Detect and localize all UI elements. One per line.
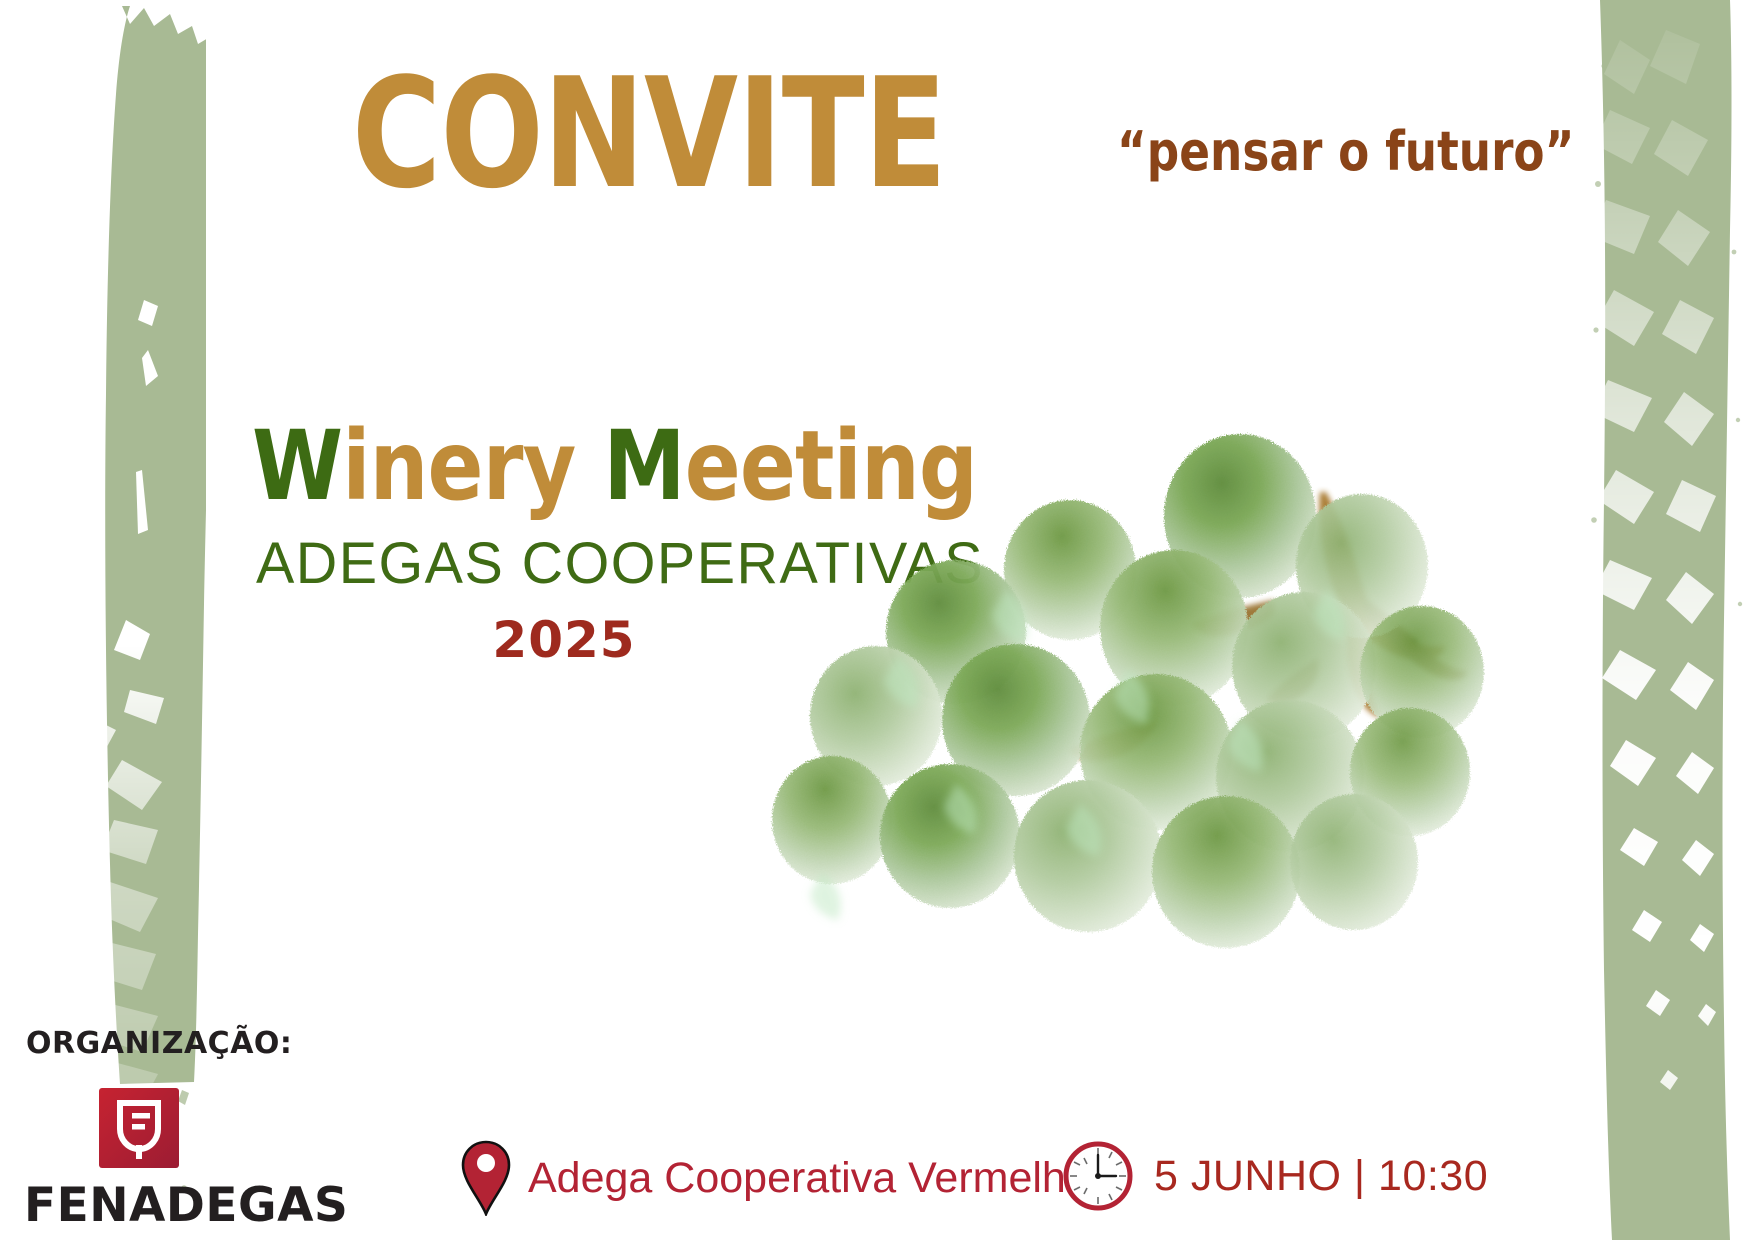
clock-icon [1060,1138,1136,1214]
date-info: 5 JUNHO | 10:30 [1060,1138,1488,1214]
event-title-cap-w: W [252,410,342,522]
event-title-cap-m: M [603,410,684,522]
organisation-label: ORGANIZAÇÃO: [26,1026,324,1061]
date-time: 5 JUNHO | 10:30 [1154,1152,1488,1201]
invitation-poster: CONVITE “pensar o futuro” Winery Meeting… [0,0,1748,1240]
wine-glass-f-monogram-icon [98,1087,180,1169]
green-grape-bunch-illustration [770,420,1510,1020]
venue-name: Adega Cooperativa Vermelha [528,1154,1090,1203]
headline-row: CONVITE “pensar o futuro” [352,72,1661,197]
page-title-convite: CONVITE [352,72,946,197]
organisation-block: ORGANIZAÇÃO: FENADEGAS [24,1026,324,1233]
map-pin-icon [460,1140,512,1216]
event-title-space [576,410,604,522]
event-title-rest-inery: inery [342,410,575,522]
venue-info: Adega Cooperativa Vermelha [460,1140,1090,1216]
fenadegas-logo: FENADEGAS [24,1087,254,1233]
organisation-name: FENADEGAS [24,1178,254,1233]
tagline: “pensar o futuro” [1117,125,1574,179]
